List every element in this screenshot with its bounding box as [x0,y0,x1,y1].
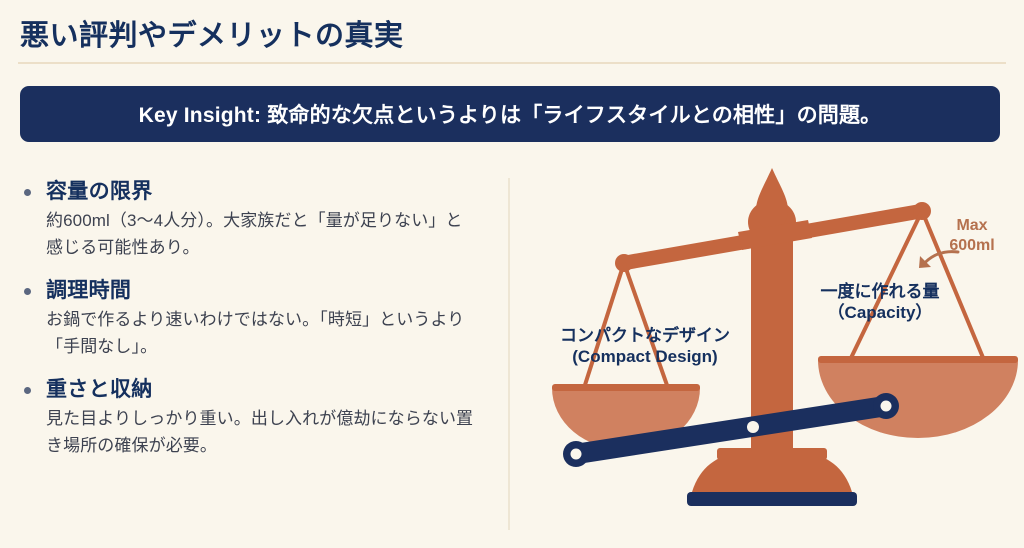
page-title: 悪い評判やデメリットの真実 [20,12,404,54]
left-pan-label-ja: コンパクトなデザイン [560,326,730,345]
bullet-dot-icon [24,288,31,295]
list-item: 容量の限界 約600ml（3〜4人分）。大家族だと「量が足りない」と感じる可能性… [16,178,486,261]
bullet-dot-icon [24,189,31,196]
content-area: 容量の限界 約600ml（3〜4人分）。大家族だと「量が足りない」と感じる可能性… [0,160,1024,548]
left-pan-label: コンパクトなデザイン (Compact Design) [520,326,770,367]
list-item-body: お鍋で作るより速いわけではない。「時短」というより「手間なし」。 [46,307,476,360]
title-divider [18,62,1006,64]
list-item-heading: 調理時間 [46,277,486,304]
max-capacity-annotation: Max 600ml [930,216,1014,256]
list-item-body: 約600ml（3〜4人分）。大家族だと「量が足りない」と感じる可能性あり。 [46,208,476,261]
max-annotation-line2: 600ml [949,237,994,254]
list-item: 重さと収納 見た目よりしっかり重い。出し入れが億劫にならない置き場所の確保が必要… [16,376,486,459]
bullet-dot-icon [24,387,31,394]
left-pan-label-en: (Compact Design) [572,347,717,366]
max-annotation-line1: Max [956,217,987,234]
list-item-heading: 重さと収納 [46,376,486,403]
slide-root: 悪い評判やデメリットの真実 Key Insight: 致命的な欠点というよりは「… [0,0,1024,548]
list-item-body: 見た目よりしっかり重い。出し入れが億劫にならない置き場所の確保が必要。 [46,406,476,459]
list-item: 調理時間 お鍋で作るより速いわけではない。「時短」というより「手間なし」。 [16,277,486,360]
balance-scale-illustration: コンパクトなデザイン (Compact Design) 一度に作れる量 （Cap… [512,160,1024,548]
list-item-heading: 容量の限界 [46,178,486,205]
demerit-list: 容量の限界 約600ml（3〜4人分）。大家族だと「量が足りない」と感じる可能性… [16,178,486,475]
right-pan-label: 一度に作れる量 （Capacity） [790,282,970,323]
column-divider [508,178,510,530]
key-insight-banner: Key Insight: 致命的な欠点というよりは「ライフスタイルとの相性」の問… [20,86,1000,142]
right-pan-label-en: （Capacity） [828,303,933,322]
key-insight-text: Key Insight: 致命的な欠点というよりは「ライフスタイルとの相性」の問… [139,99,882,129]
right-pan-label-ja: 一度に作れる量 [821,282,940,301]
